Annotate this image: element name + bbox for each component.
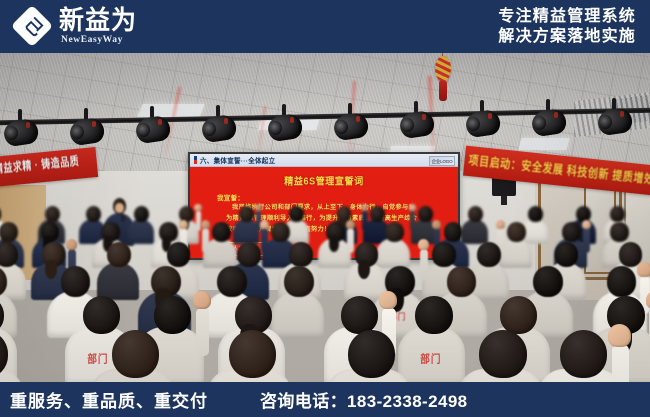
presenter-face xyxy=(115,203,124,213)
slogan-line-1: 专注精益管理系统 xyxy=(498,7,636,27)
slide-title: 精益6S管理宣誓词 xyxy=(190,173,458,187)
audience-member-head xyxy=(154,296,191,334)
audience-member-head xyxy=(447,266,477,297)
brand-name-en: NewEasyWay xyxy=(59,36,137,46)
audience-member-head xyxy=(237,242,261,267)
audience-member-head xyxy=(370,206,385,222)
audience-member-forearm xyxy=(196,211,201,231)
audience-member-head xyxy=(0,206,1,222)
audience-member-forearm xyxy=(362,211,367,231)
audience-member-head xyxy=(477,242,501,267)
audience-member-head xyxy=(271,222,290,242)
audience-member-raised-fist xyxy=(193,291,211,309)
wall-banner-left-text: 精益求精 · 铸造品质 xyxy=(0,150,96,176)
audience-member-raised-fist xyxy=(418,239,429,250)
audience-member-head xyxy=(86,206,101,222)
slogan-line-2: 解决方案落地实施 xyxy=(498,27,636,47)
audience-member-raised-fist xyxy=(201,220,210,229)
audience-member-raised-fist xyxy=(346,220,355,229)
audience-member-head xyxy=(432,242,456,267)
header-bar: 己 新益为 NewEasyWay 专注精益管理系统 解决方案落地实施 xyxy=(0,0,650,53)
audience-member-raised-fist xyxy=(608,324,631,347)
audience-member-head xyxy=(341,296,378,334)
audience-member-raised-fist xyxy=(637,262,650,276)
audience-member-head xyxy=(61,266,91,297)
ceiling-light-panel xyxy=(518,138,569,150)
audience-member-raised-fist xyxy=(260,220,269,229)
stage-light-icon xyxy=(400,109,434,139)
audience-member-head xyxy=(562,222,581,242)
audience-member-forearm xyxy=(196,308,209,356)
audience-member: 部门 xyxy=(402,296,462,392)
audience-member-head xyxy=(0,242,18,267)
stage-light-icon xyxy=(334,111,368,141)
audience-member-head xyxy=(444,222,463,242)
audience-member-raised-fist xyxy=(255,204,262,211)
slide-header-bar: 六、集体宣誓···全体起立 企业LOGO xyxy=(190,154,458,167)
slide-company-logo: 企业LOGO xyxy=(429,156,455,166)
audience-member-raised-fist xyxy=(66,239,77,250)
footer-phone[interactable]: 咨询电话：183-2338-2498 xyxy=(260,387,468,412)
audience-member-head xyxy=(610,222,629,242)
audience-member-raised-fist xyxy=(496,220,505,229)
audience-member-raised-fist xyxy=(379,291,397,309)
stage-light-icon xyxy=(268,112,302,142)
stage-light-icon xyxy=(70,116,104,146)
audience-member-head xyxy=(107,242,131,267)
slide-section-header: 六、集体宣誓···全体起立 xyxy=(200,155,275,166)
brand-logo[interactable]: 己 新益为 NewEasyWay xyxy=(0,8,137,46)
audience-member-raised-fist xyxy=(409,204,416,211)
audience-member-raised-fist xyxy=(432,220,441,229)
audience-member-head xyxy=(500,296,537,334)
audience-member-head xyxy=(212,222,231,242)
audience-member-raised-fist xyxy=(582,220,591,229)
stage-light-icon xyxy=(598,106,632,136)
audience-member-head xyxy=(134,206,149,222)
stage-light-icon xyxy=(532,107,566,137)
audience-member-torso xyxy=(97,262,140,300)
stage-light-icon xyxy=(202,113,236,143)
footer-tagline: 重服务、重品质、重交付 xyxy=(0,387,208,412)
footer-phone-label: 咨询电话： xyxy=(260,392,347,411)
conference-photo: 精益求精 · 铸造品质 项目启动：安全发展 科技创新 提质增效 六、集体宣誓··… xyxy=(0,0,650,417)
stage-light-icon xyxy=(136,114,170,144)
audience-member-head xyxy=(415,296,452,334)
neweasyway-diamond-logo-icon: 己 xyxy=(14,8,52,46)
audience-member-forearm xyxy=(202,228,209,253)
audience-member-head xyxy=(533,266,563,297)
audience-member-head xyxy=(528,206,543,222)
footer-phone-number: 183-2338-2498 xyxy=(347,392,468,411)
header-slogan: 专注精益管理系统 解决方案落地实施 xyxy=(498,7,650,47)
stage-light-icon xyxy=(4,117,38,147)
audience-member-raised-fist xyxy=(179,220,188,229)
audience-member-forearm xyxy=(410,211,415,231)
presenter-microphone-icon xyxy=(121,214,125,222)
audience-member-head xyxy=(479,330,526,378)
audience-member-head xyxy=(560,330,607,378)
audience-member-head xyxy=(610,206,625,222)
audience-member-head xyxy=(607,266,637,297)
uniform-back-mark: 部门 xyxy=(420,351,441,366)
audience-crowd: 部门部门部门部门部门部门部门部门 xyxy=(0,196,650,396)
audience-member-head xyxy=(284,266,314,297)
audience-member-head xyxy=(217,266,247,297)
audience-member-raised-fist xyxy=(194,204,201,211)
audience-member-head xyxy=(385,222,404,242)
audience-member-head xyxy=(289,206,304,222)
audience-member-head xyxy=(468,206,483,222)
audience-member-head xyxy=(418,206,433,222)
audience-member-head xyxy=(83,296,120,334)
audience-member-head xyxy=(0,266,7,297)
audience-member-head xyxy=(507,222,526,242)
stage-light-icon xyxy=(466,108,500,138)
slide-bullet-icon xyxy=(194,156,197,164)
audience-member-head xyxy=(239,206,254,222)
audience-member-head xyxy=(112,330,159,378)
chinese-hanging-ornament-icon xyxy=(432,50,454,112)
brand-name-cn: 新益为 xyxy=(59,8,137,34)
audience-member-head xyxy=(167,242,191,267)
audience-member-head xyxy=(229,330,276,378)
audience-member-head xyxy=(348,330,395,378)
audience-member-torso xyxy=(127,219,154,244)
audience-member-ponytail xyxy=(329,236,339,251)
footer-bar: 重服务、重品质、重交付 咨询电话：183-2338-2498 xyxy=(0,382,650,417)
audience-member-head xyxy=(289,242,313,267)
banner-image: 精益求精 · 铸造品质 项目启动：安全发展 科技创新 提质增效 六、集体宣誓··… xyxy=(0,0,650,417)
audience-member-head xyxy=(555,242,579,267)
audience-member-raised-fist xyxy=(361,204,368,211)
